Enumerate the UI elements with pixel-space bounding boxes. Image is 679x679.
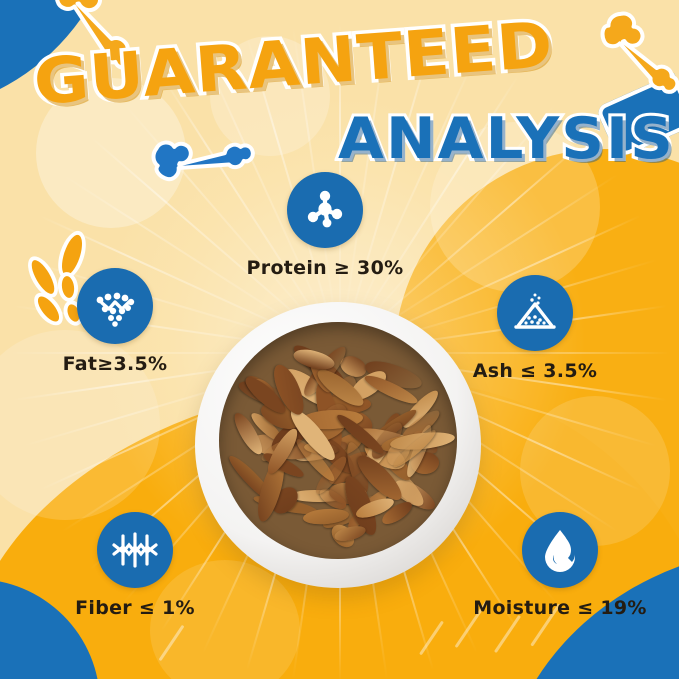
stat-ash: Ash ≤ 3.5% [440, 275, 630, 382]
fat-disc [77, 268, 153, 344]
stat-label-protein: Protein ≥ 30% [230, 257, 420, 279]
stat-label-moisture: Moisture ≤ 19% [465, 597, 655, 619]
water-drop-icon [538, 526, 582, 574]
stat-label-fiber: Fiber ≤ 1% [40, 597, 230, 619]
stat-fat: Fat≥3.5% [20, 268, 210, 375]
stat-fiber: Fiber ≤ 1% [40, 512, 230, 619]
fat-cells-icon [91, 284, 139, 328]
fiber-weave-icon [110, 528, 160, 572]
heading-analysis: ANALYSIS [338, 106, 675, 172]
molecule-icon [302, 187, 348, 233]
ash-pile-icon [511, 290, 559, 336]
heading-block: GUARANTEED ANALYSIS [0, 28, 679, 178]
stat-protein: Protein ≥ 30% [230, 172, 420, 279]
infographic-canvas: GUARANTEED ANALYSIS [0, 0, 679, 679]
stat-moisture: Moisture ≤ 19% [465, 512, 655, 619]
protein-disc [287, 172, 363, 248]
fiber-disc [97, 512, 173, 588]
stat-label-fat: Fat≥3.5% [20, 353, 210, 375]
bowl-contents [219, 322, 456, 559]
bowl-of-treats-photo [195, 302, 481, 588]
ash-disc [497, 275, 573, 351]
stat-label-ash: Ash ≤ 3.5% [440, 360, 630, 382]
moisture-disc [522, 512, 598, 588]
